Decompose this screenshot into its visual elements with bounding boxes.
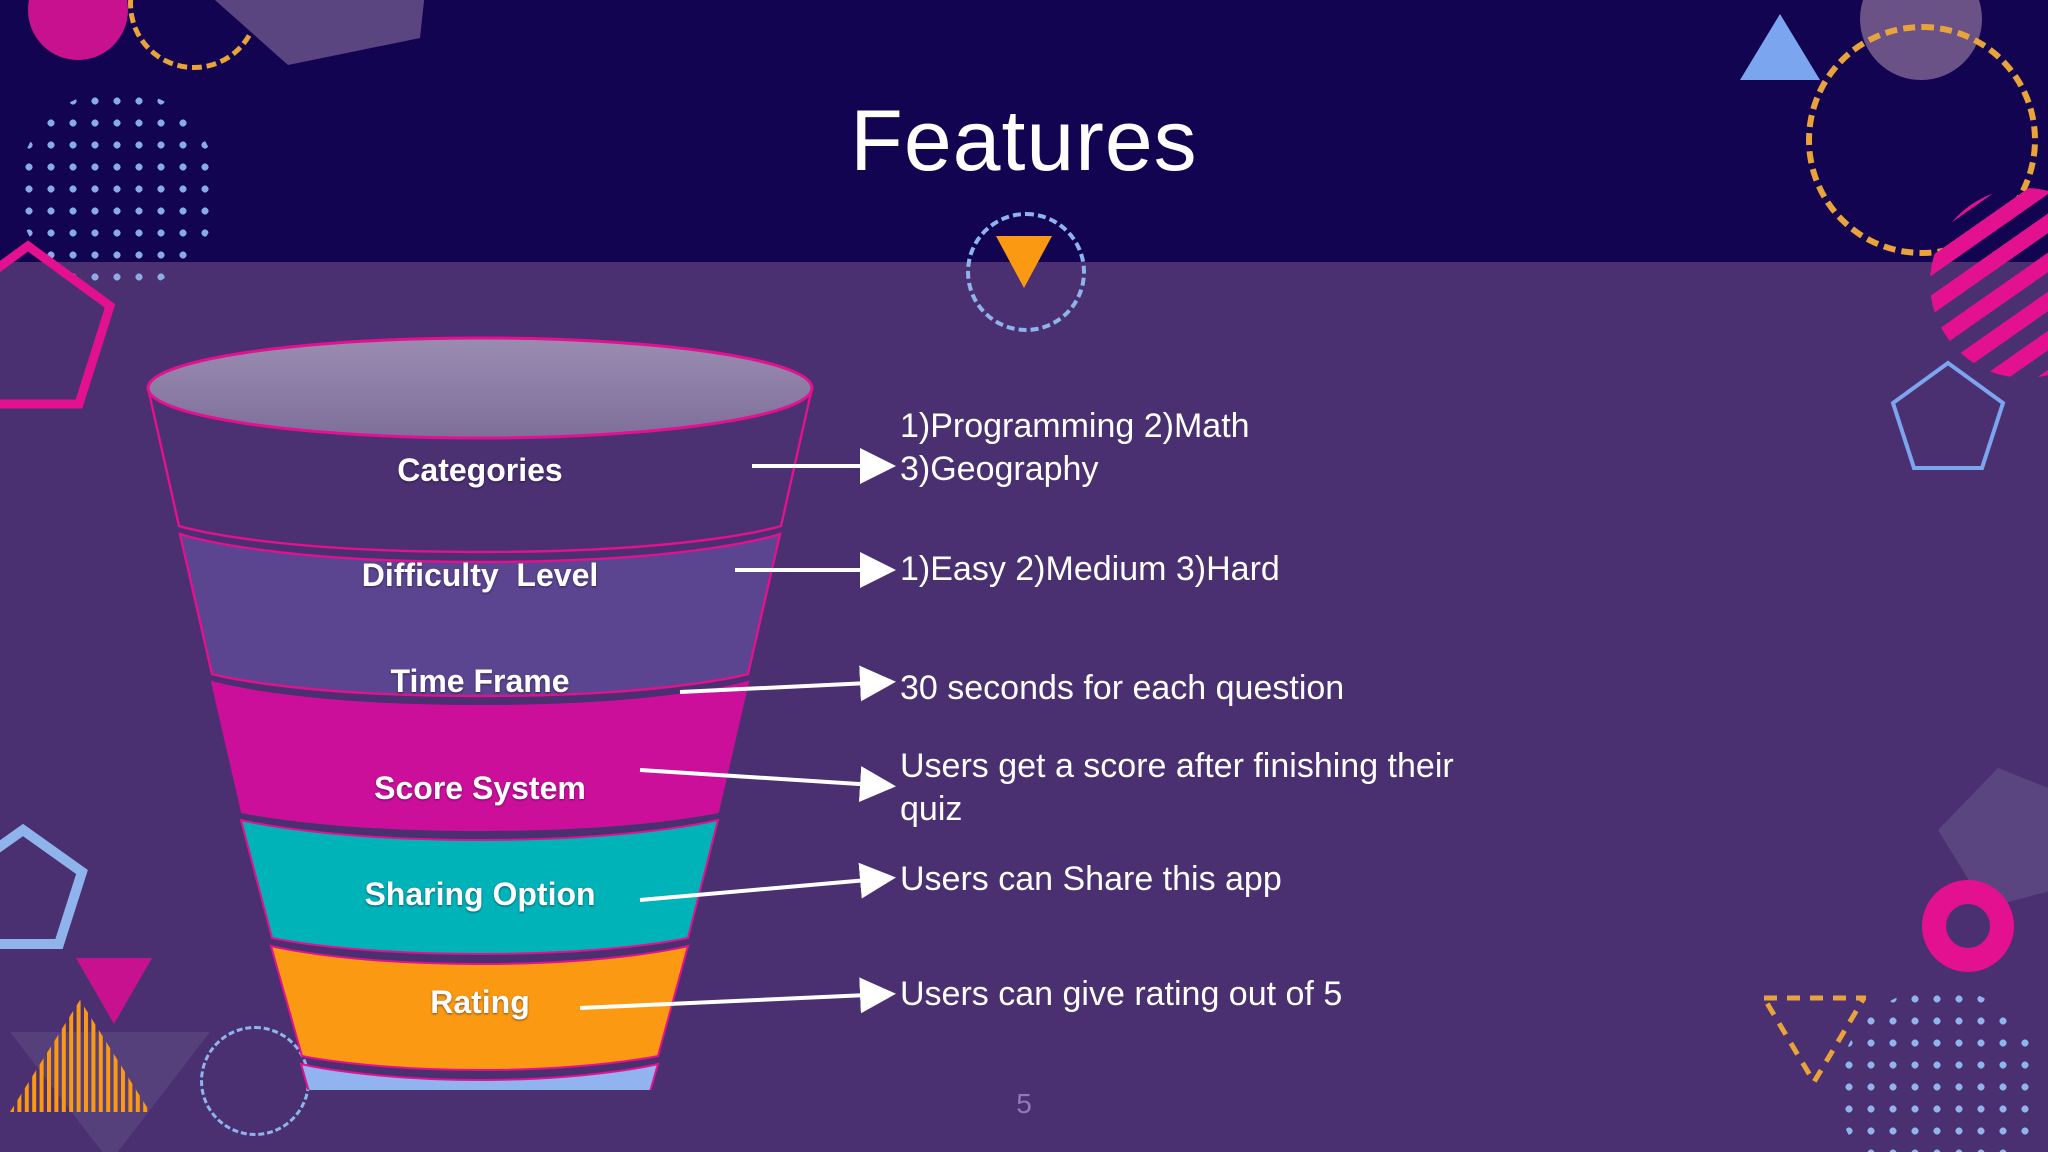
callout-difficulty: 1)Easy 2)Medium 3)Hard <box>900 548 1600 591</box>
funnel-label-difficulty: Difficulty Level <box>140 557 820 594</box>
callout-score: Users get a score after finishing their … <box>900 745 1660 831</box>
callout-timeframe: 30 seconds for each question <box>900 667 1600 710</box>
callout-sharing: Users can Share this app <box>900 858 1600 901</box>
page-title: Features <box>0 96 2048 186</box>
funnel-label-rating: Rating <box>140 984 820 1021</box>
funnel-label-sharing: Sharing Option <box>140 876 820 913</box>
callout-score-line2: quiz <box>900 788 1660 831</box>
callout-categories-line1: 1)Programming 2)Math <box>900 405 1600 448</box>
funnel-stage-timeframe[interactable] <box>212 682 748 830</box>
funnel-label-categories: Categories <box>140 452 820 489</box>
funnel-label-score: Score System <box>140 770 820 807</box>
funnel-top-cap <box>148 338 812 438</box>
callout-categories: 1)Programming 2)Math 3)Geography <box>900 405 1600 491</box>
callout-score-line1: Users get a score after finishing their <box>900 745 1660 788</box>
callout-sharing-line1: Users can Share this app <box>900 858 1600 901</box>
page-number: 5 <box>0 1088 2048 1120</box>
callout-rating-line1: Users can give rating out of 5 <box>900 973 1600 1016</box>
callout-categories-line2: 3)Geography <box>900 448 1600 491</box>
slide-canvas: Features 5 Categories Difficulty Level T… <box>0 0 2048 1152</box>
callout-rating: Users can give rating out of 5 <box>900 973 1600 1016</box>
callout-timeframe-line1: 30 seconds for each question <box>900 667 1600 710</box>
funnel-label-timeframe: Time Frame <box>140 663 820 700</box>
callout-difficulty-line1: 1)Easy 2)Medium 3)Hard <box>900 548 1600 591</box>
features-funnel <box>140 330 820 1090</box>
